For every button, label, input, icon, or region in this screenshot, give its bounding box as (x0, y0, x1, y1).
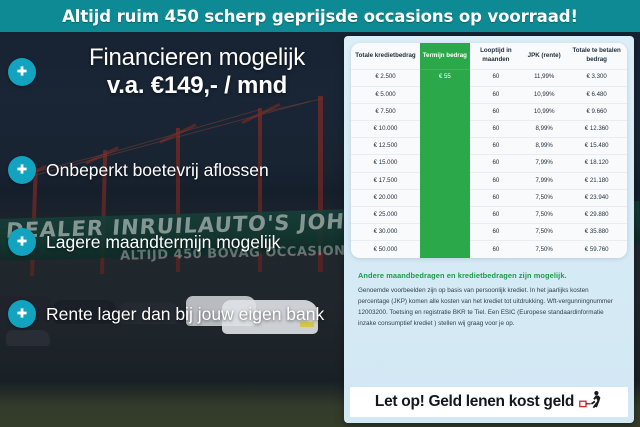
credit-info-panel: Totale kredietbedrag Termijn bedrag Loop… (344, 36, 634, 423)
table-cell: 7,50% (522, 241, 566, 258)
table-cell: € 12.500 (351, 138, 420, 155)
table-cell: 60 (470, 241, 522, 258)
table-cell: € 59.760 (566, 241, 627, 258)
table-row: € 25.000€ 498607,50%€ 29.880 (351, 207, 627, 224)
table-body: € 2.500€ 556011,99%€ 3.300€ 5.000€ 10860… (351, 69, 627, 258)
table-header-cell: Termijn bedrag (420, 43, 470, 69)
feature-bullet-2-label: Lagere maandtermijn mogelijk (46, 232, 280, 253)
table-header-cell: Totale kredietbedrag (351, 43, 420, 69)
table-header-cell: Totale te betalen bedrag (566, 43, 627, 69)
table-cell: 11,99% (522, 69, 566, 86)
table-cell: 60 (470, 172, 522, 189)
plus-icon (8, 228, 36, 256)
table-cell: € 18.120 (566, 155, 627, 172)
table-row: € 30.000€ 598607,50%€ 35.880 (351, 224, 627, 241)
feature-bullet-3: Rente lager dan bij jouw eigen bank (8, 300, 348, 328)
table-row: € 20.000€ 399607,50%€ 23.940 (351, 189, 627, 206)
table-cell: € 25.000 (351, 207, 420, 224)
table-cell: € 10.000 (351, 121, 420, 138)
table-cell: 8,99% (522, 138, 566, 155)
feature-bullet-3-label: Rente lager dan bij jouw eigen bank (46, 304, 324, 325)
top-banner-text: Altijd ruim 450 scherp geprijsde occasio… (62, 7, 578, 26)
table-cell: 60 (470, 224, 522, 241)
credit-rates-table: Totale kredietbedrag Termijn bedrag Loop… (351, 43, 627, 258)
credit-warning-text: Let op! Geld lenen kost geld (375, 393, 574, 411)
disclaimer-body: Genoemde voorbeelden zijn op basis van p… (358, 286, 620, 329)
table-cell: 7,50% (522, 189, 566, 206)
table-cell: 8,99% (522, 121, 566, 138)
table-cell: 7,99% (522, 155, 566, 172)
table-cell: 60 (470, 103, 522, 120)
table-cell: 60 (470, 69, 522, 86)
table-cell: € 17.500 (351, 172, 420, 189)
table-cell: 10,99% (522, 86, 566, 103)
plus-icon (8, 156, 36, 184)
table-row: € 2.500€ 556011,99%€ 3.300 (351, 69, 627, 86)
headline-line-1: Financieren mogelijk (46, 44, 348, 72)
table-cell: € 6.480 (566, 86, 627, 103)
table-cell: € 5.000 (351, 86, 420, 103)
table-cell: € 15.000 (351, 155, 420, 172)
table-cell: 60 (470, 121, 522, 138)
table-header-cell: JPK (rente) (522, 43, 566, 69)
feature-bullet-2: Lagere maandtermijn mogelijk (8, 228, 348, 256)
table-row: € 15.000€ 302607,99%€ 18.120 (351, 155, 627, 172)
table-cell: € 30.000 (351, 224, 420, 241)
table-header-row: Totale kredietbedrag Termijn bedrag Loop… (351, 43, 627, 69)
table-row: € 50.000€ 996607,50%€ 59.760 (351, 241, 627, 258)
plus-icon (8, 58, 36, 86)
credit-warning-bar: Let op! Geld lenen kost geld (350, 387, 628, 417)
table-cell: € 35.880 (566, 224, 627, 241)
table-cell: € 20.000 (351, 189, 420, 206)
highlight-column-tail (420, 84, 470, 258)
table-cell: € 9.660 (566, 103, 627, 120)
table-cell: € 2.500 (351, 69, 420, 86)
advertisement-banner: DEALER INRUILAUTO'S JOHAN MEURE ALTIJD 4… (0, 0, 640, 427)
table-cell: € 15.480 (566, 138, 627, 155)
table-row: € 10.000€ 206608,99%€ 12.360 (351, 121, 627, 138)
table-row: € 7.500€ 1616010,99%€ 9.660 (351, 103, 627, 120)
table-row: € 17.500€ 353607,99%€ 21.180 (351, 172, 627, 189)
table-cell: 60 (470, 189, 522, 206)
table-header-cell: Looptijd in maanden (470, 43, 522, 69)
headline-block: Financieren mogelijk v.a. €149,- / mnd (0, 44, 348, 101)
table-row: € 12.500€ 258608,99%€ 15.480 (351, 138, 627, 155)
headline-line-2: v.a. €149,- / mnd (46, 72, 348, 100)
table-cell: 7,50% (522, 224, 566, 241)
disclaimer-title: Andere maandbedragen en kredietbedragen … (358, 271, 620, 280)
table-cell: € 29.880 (566, 207, 627, 224)
table-cell: 10,99% (522, 103, 566, 120)
table-cell: € 21.180 (566, 172, 627, 189)
rates-table-card: Totale kredietbedrag Termijn bedrag Loop… (351, 43, 627, 258)
table-cell: € 12.360 (566, 121, 627, 138)
table-row: € 5.000€ 1086010,99%€ 6.480 (351, 86, 627, 103)
feature-bullet-1-label: Onbeperkt boetevrij aflossen (46, 160, 269, 181)
running-man-wallet-icon (579, 390, 603, 415)
table-cell: 60 (470, 86, 522, 103)
table-cell: 60 (470, 155, 522, 172)
table-cell: 7,99% (522, 172, 566, 189)
table-cell: 60 (470, 207, 522, 224)
disclaimer-block: Andere maandbedragen en kredietbedragen … (344, 258, 634, 329)
top-banner: Altijd ruim 450 scherp geprijsde occasio… (0, 0, 640, 32)
table-cell: 60 (470, 138, 522, 155)
table-cell: € 3.300 (566, 69, 627, 86)
table-cell: € 7.500 (351, 103, 420, 120)
left-content-column: Financieren mogelijk v.a. €149,- / mnd O… (0, 32, 348, 427)
plus-icon (8, 300, 36, 328)
table-cell: € 23.940 (566, 189, 627, 206)
headline-text: Financieren mogelijk v.a. €149,- / mnd (46, 44, 348, 101)
feature-bullet-1: Onbeperkt boetevrij aflossen (8, 156, 348, 184)
table-cell: 7,50% (522, 207, 566, 224)
table-cell: € 50.000 (351, 241, 420, 258)
